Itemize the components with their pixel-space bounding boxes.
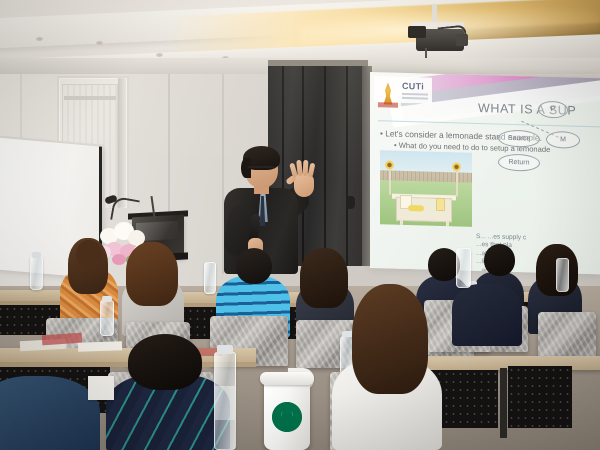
attendee-white-blouse-hair — [352, 284, 428, 394]
water-bottle — [204, 262, 216, 294]
attendee-teal-chevron-head — [128, 334, 202, 390]
attendee-navy-suit-2-head — [484, 244, 515, 276]
downlight-icon — [156, 53, 163, 57]
diagram-node-plan: P — [538, 101, 568, 119]
lemonade-stand-photo — [380, 150, 472, 227]
paper-stack — [78, 341, 122, 352]
water-bottle — [556, 258, 569, 292]
presenter-raised-hand — [294, 173, 314, 197]
microphone-icon — [346, 196, 355, 209]
downlight-icon — [96, 41, 103, 45]
starbucks-siren-icon — [281, 409, 293, 425]
white-object — [88, 376, 114, 400]
door-rail — [64, 96, 116, 100]
sunflower-icon — [452, 162, 461, 171]
bottle-label — [215, 386, 235, 420]
attendee-mid-hair — [300, 248, 348, 308]
conference-room-photo: CUTi WHAT IS A SUP • Let's consider a le… — [0, 0, 600, 450]
lemons — [408, 205, 424, 211]
logo-emblem-icon — [380, 82, 396, 104]
water-bottle — [30, 256, 43, 290]
projection-screen: CUTi WHAT IS A SUP • Let's consider a le… — [370, 72, 600, 274]
attendee-orange-floral-head — [76, 240, 102, 268]
lemonade-pitcher — [436, 198, 445, 211]
logo-subtext — [378, 102, 398, 108]
attendee-striped-polo-head — [236, 248, 272, 284]
attendee-foreground-left — [0, 376, 100, 450]
attendee-navy-foreground-body — [452, 284, 522, 346]
chair — [538, 312, 596, 360]
door-shadow — [118, 78, 127, 208]
projector-bracket — [408, 26, 426, 38]
projector-mount-stem — [432, 4, 437, 24]
water-bottle — [100, 300, 114, 336]
table-modesty-panel — [508, 366, 572, 428]
eyeglasses-icon — [247, 166, 275, 173]
attendee-left-hair — [126, 242, 178, 306]
cuti-logo: CUTi — [374, 76, 432, 104]
sunflower-icon — [385, 160, 394, 169]
logo-text: CUTi — [402, 81, 424, 92]
cup-lid — [260, 372, 314, 385]
bottle-cap — [217, 345, 233, 354]
downlight-icon — [36, 37, 43, 41]
projector-lens — [456, 34, 468, 46]
water-bottle — [456, 248, 471, 288]
